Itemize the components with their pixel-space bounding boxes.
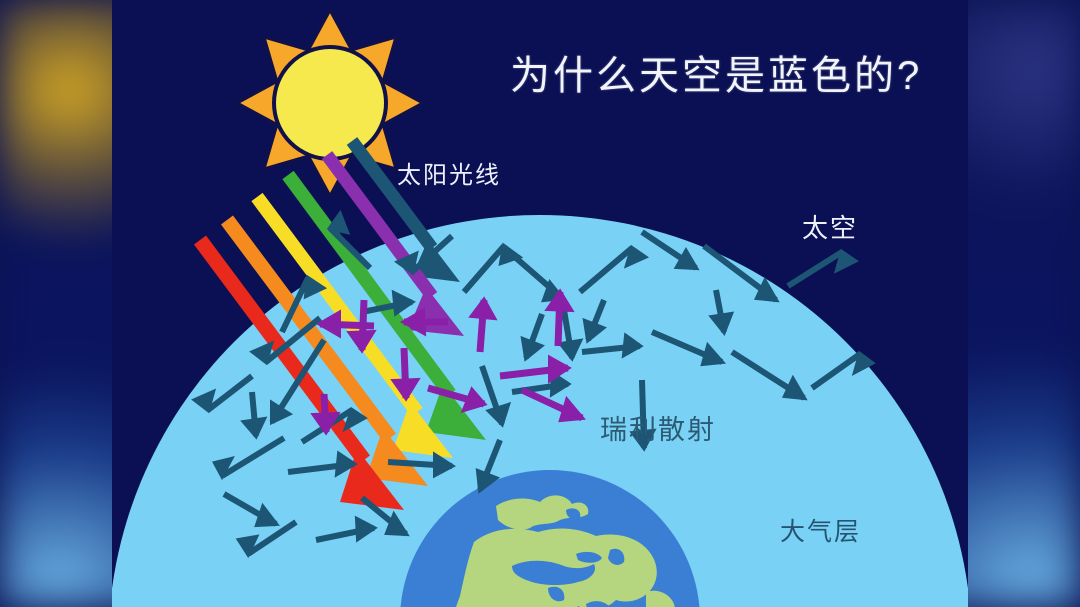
rayleigh-scatter-arrows [195,214,872,554]
label-atmosphere: 大气层 [780,512,861,548]
label-space: 太空 [802,208,858,245]
page-title: 为什么天空是蓝色的? [510,43,922,101]
diagram-canvas: 为什么天空是蓝色的? 太阳光线 太空 瑞利散射 大气层 [0,0,1080,607]
content-frame: 为什么天空是蓝色的? 太阳光线 太空 瑞利散射 大气层 [112,0,968,607]
label-sunlight-rays: 太阳光线 [397,155,501,190]
label-rayleigh-scattering: 瑞利散射 [600,408,716,447]
